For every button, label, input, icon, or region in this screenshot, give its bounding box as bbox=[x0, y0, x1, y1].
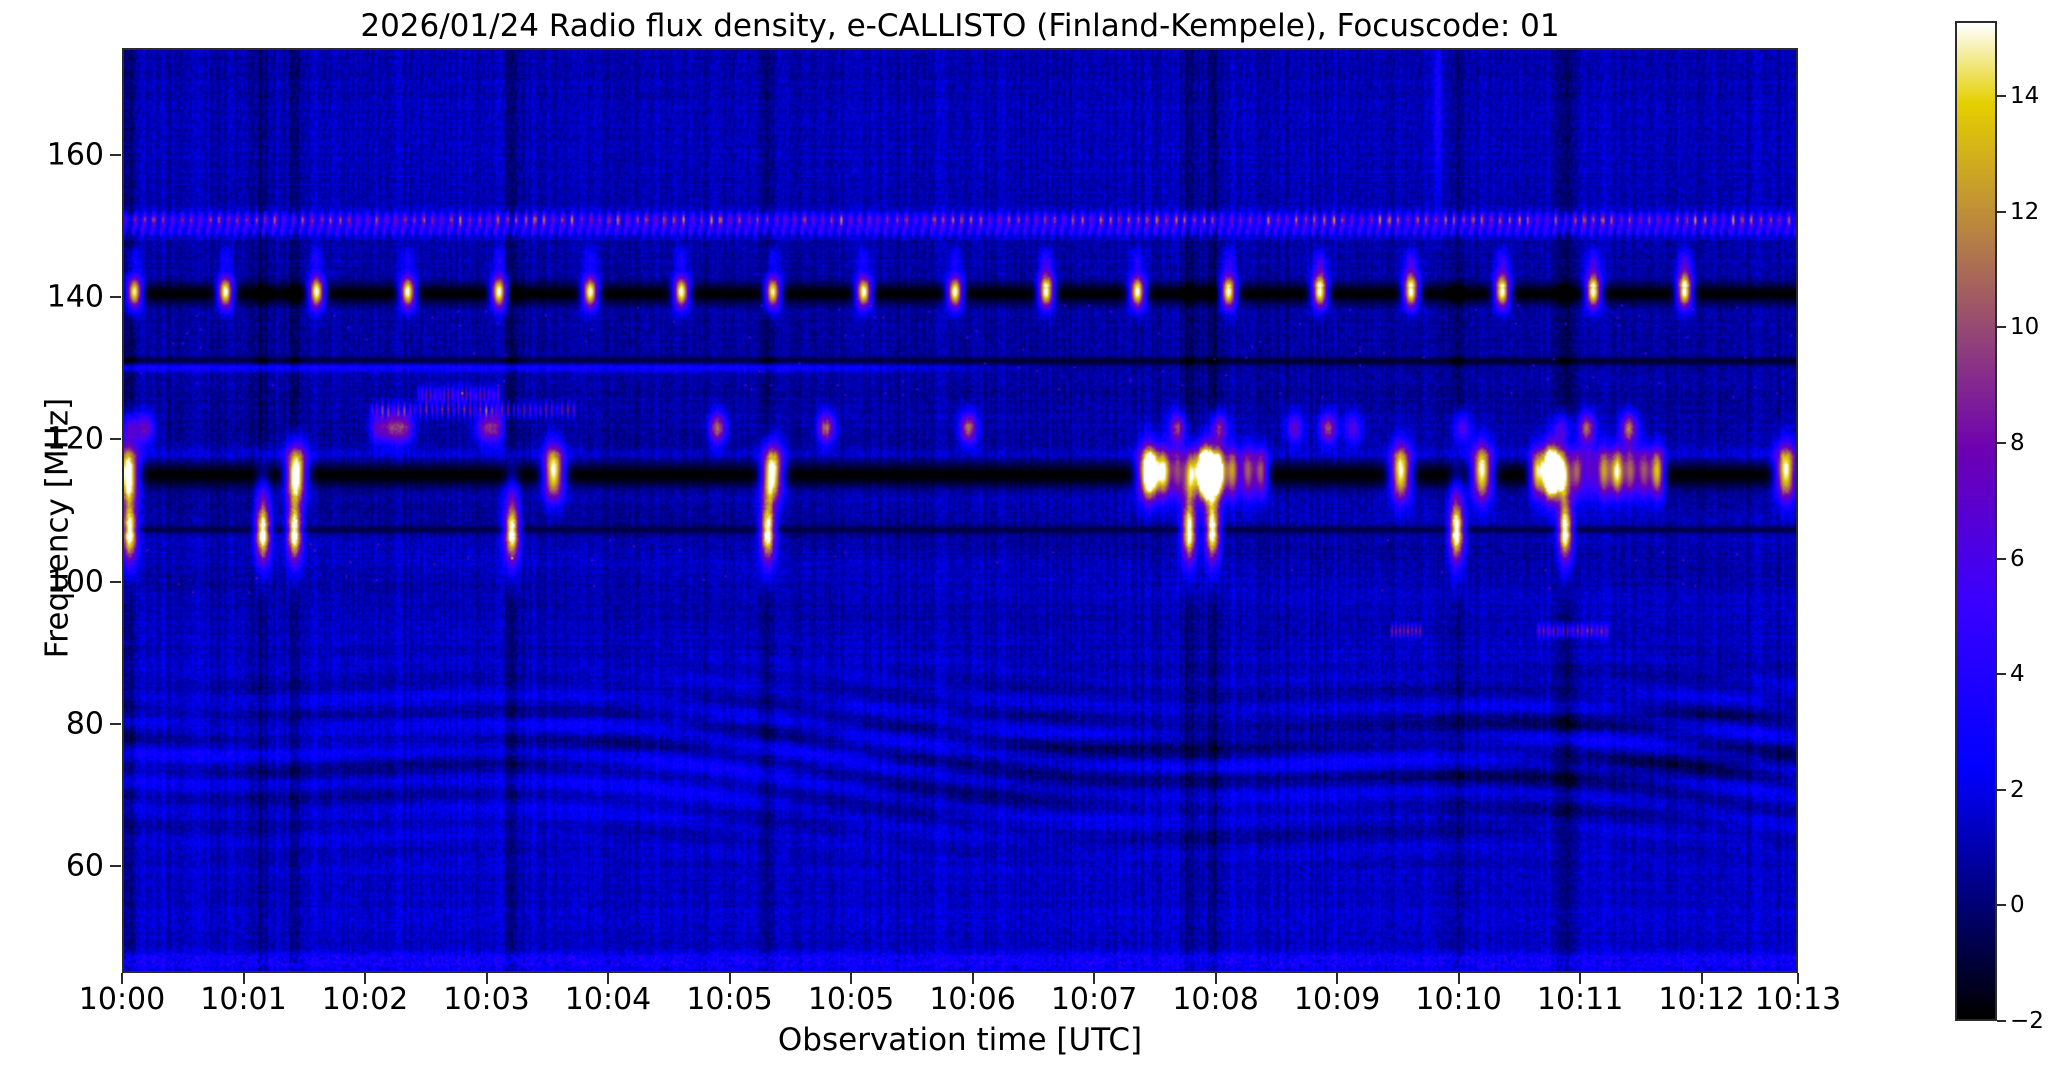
x-tick-mark bbox=[121, 973, 123, 984]
x-tick-mark bbox=[364, 973, 366, 984]
figure-root: 2026/01/24 Radio flux density, e-CALLIST… bbox=[0, 0, 2066, 1067]
x-tick-label: 10:13 bbox=[1755, 982, 1841, 1017]
x-tick-mark bbox=[1797, 973, 1799, 984]
colorbar-tick-mark bbox=[1997, 789, 2006, 791]
colorbar-tick-label: 12 bbox=[2010, 199, 2039, 225]
x-tick-label: 10:03 bbox=[443, 982, 529, 1017]
x-tick-mark bbox=[1579, 973, 1581, 984]
x-tick-mark bbox=[972, 973, 974, 984]
colorbar-tick-label: 2 bbox=[2010, 777, 2025, 803]
spectrogram-image bbox=[124, 50, 1796, 971]
x-tick-label: 10:09 bbox=[1294, 982, 1380, 1017]
colorbar-tick-label: 0 bbox=[2010, 892, 2025, 918]
x-tick-label: 10:05 bbox=[686, 982, 772, 1017]
colorbar-gradient bbox=[1957, 23, 1995, 1019]
page-title: 2026/01/24 Radio flux density, e-CALLIST… bbox=[122, 8, 1798, 44]
y-tick-label: 160 bbox=[12, 137, 104, 172]
colorbar-tick-label: 10 bbox=[2010, 314, 2039, 340]
x-tick-mark bbox=[1336, 973, 1338, 984]
y-tick-mark bbox=[110, 296, 121, 298]
y-tick-mark bbox=[110, 581, 121, 583]
x-tick-mark bbox=[1215, 973, 1217, 984]
colorbar-tick-mark bbox=[1997, 904, 2006, 906]
x-tick-mark bbox=[1093, 973, 1095, 984]
y-tick-mark bbox=[110, 154, 121, 156]
colorbar-tick-label: 14 bbox=[2010, 83, 2039, 109]
x-tick-label: 10:06 bbox=[929, 982, 1015, 1017]
colorbar-tick-label: 4 bbox=[2010, 661, 2025, 687]
x-tick-label: 10:02 bbox=[322, 982, 408, 1017]
y-tick-label: 100 bbox=[12, 564, 104, 599]
x-tick-label: 10:01 bbox=[200, 982, 286, 1017]
colorbar-tick-mark bbox=[1997, 558, 2006, 560]
y-tick-label: 80 bbox=[12, 706, 104, 741]
y-tick-label: 140 bbox=[12, 280, 104, 315]
colorbar-tick-mark bbox=[1997, 442, 2006, 444]
colorbar-tick-label: 8 bbox=[2010, 430, 2025, 456]
y-tick-label: 60 bbox=[12, 849, 104, 884]
x-tick-mark bbox=[243, 973, 245, 984]
colorbar-tick-mark bbox=[1997, 95, 2006, 97]
y-tick-mark bbox=[110, 438, 121, 440]
colorbar-tick-mark bbox=[1997, 1020, 2006, 1022]
x-axis-label: Observation time [UTC] bbox=[122, 1022, 1798, 1058]
colorbar-tick-label: 6 bbox=[2010, 546, 2025, 572]
x-tick-label: 10:10 bbox=[1415, 982, 1501, 1017]
colorbar-tick-mark bbox=[1997, 673, 2006, 675]
x-tick-mark bbox=[486, 973, 488, 984]
colorbar-tick-mark bbox=[1997, 326, 2006, 328]
x-tick-mark bbox=[729, 973, 731, 984]
x-tick-mark bbox=[1701, 973, 1703, 984]
x-tick-mark bbox=[850, 973, 852, 984]
x-tick-label: 10:07 bbox=[1051, 982, 1137, 1017]
x-tick-mark bbox=[607, 973, 609, 984]
y-tick-label: 120 bbox=[12, 422, 104, 457]
x-tick-label: 10:05 bbox=[808, 982, 894, 1017]
spectrogram-axes[interactable] bbox=[122, 48, 1798, 973]
colorbar[interactable] bbox=[1955, 21, 1997, 1021]
y-tick-mark bbox=[110, 723, 121, 725]
x-tick-label: 10:00 bbox=[79, 982, 165, 1017]
x-tick-label: 10:12 bbox=[1658, 982, 1744, 1017]
y-tick-mark bbox=[110, 865, 121, 867]
x-tick-mark bbox=[1458, 973, 1460, 984]
colorbar-tick-label: −2 bbox=[2010, 1008, 2044, 1034]
x-tick-label: 10:04 bbox=[565, 982, 651, 1017]
x-tick-label: 10:11 bbox=[1537, 982, 1623, 1017]
x-tick-label: 10:08 bbox=[1172, 982, 1258, 1017]
colorbar-tick-mark bbox=[1997, 211, 2006, 213]
